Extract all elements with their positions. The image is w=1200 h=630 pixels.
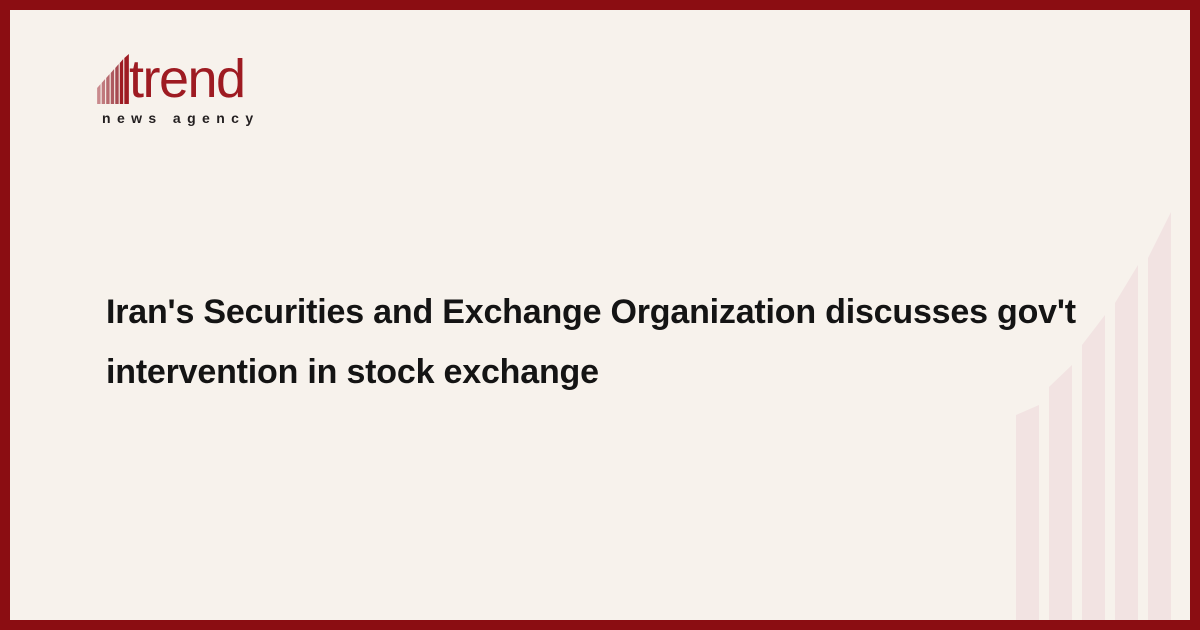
- page-title: Iran's Securities and Exchange Organizat…: [106, 282, 1106, 402]
- logo-wordmark: trend: [129, 54, 245, 104]
- ascending-bars-decoration: [1010, 190, 1180, 620]
- logo-tagline: news agency: [102, 110, 326, 126]
- ascending-bars-icon: [96, 54, 130, 104]
- logo-top-row: trend: [96, 48, 326, 104]
- social-share-card: trend news agency Iran's Securities and …: [0, 0, 1200, 630]
- card-content-area: trend news agency Iran's Securities and …: [10, 10, 1190, 620]
- trend-news-agency-logo[interactable]: trend news agency: [96, 48, 326, 126]
